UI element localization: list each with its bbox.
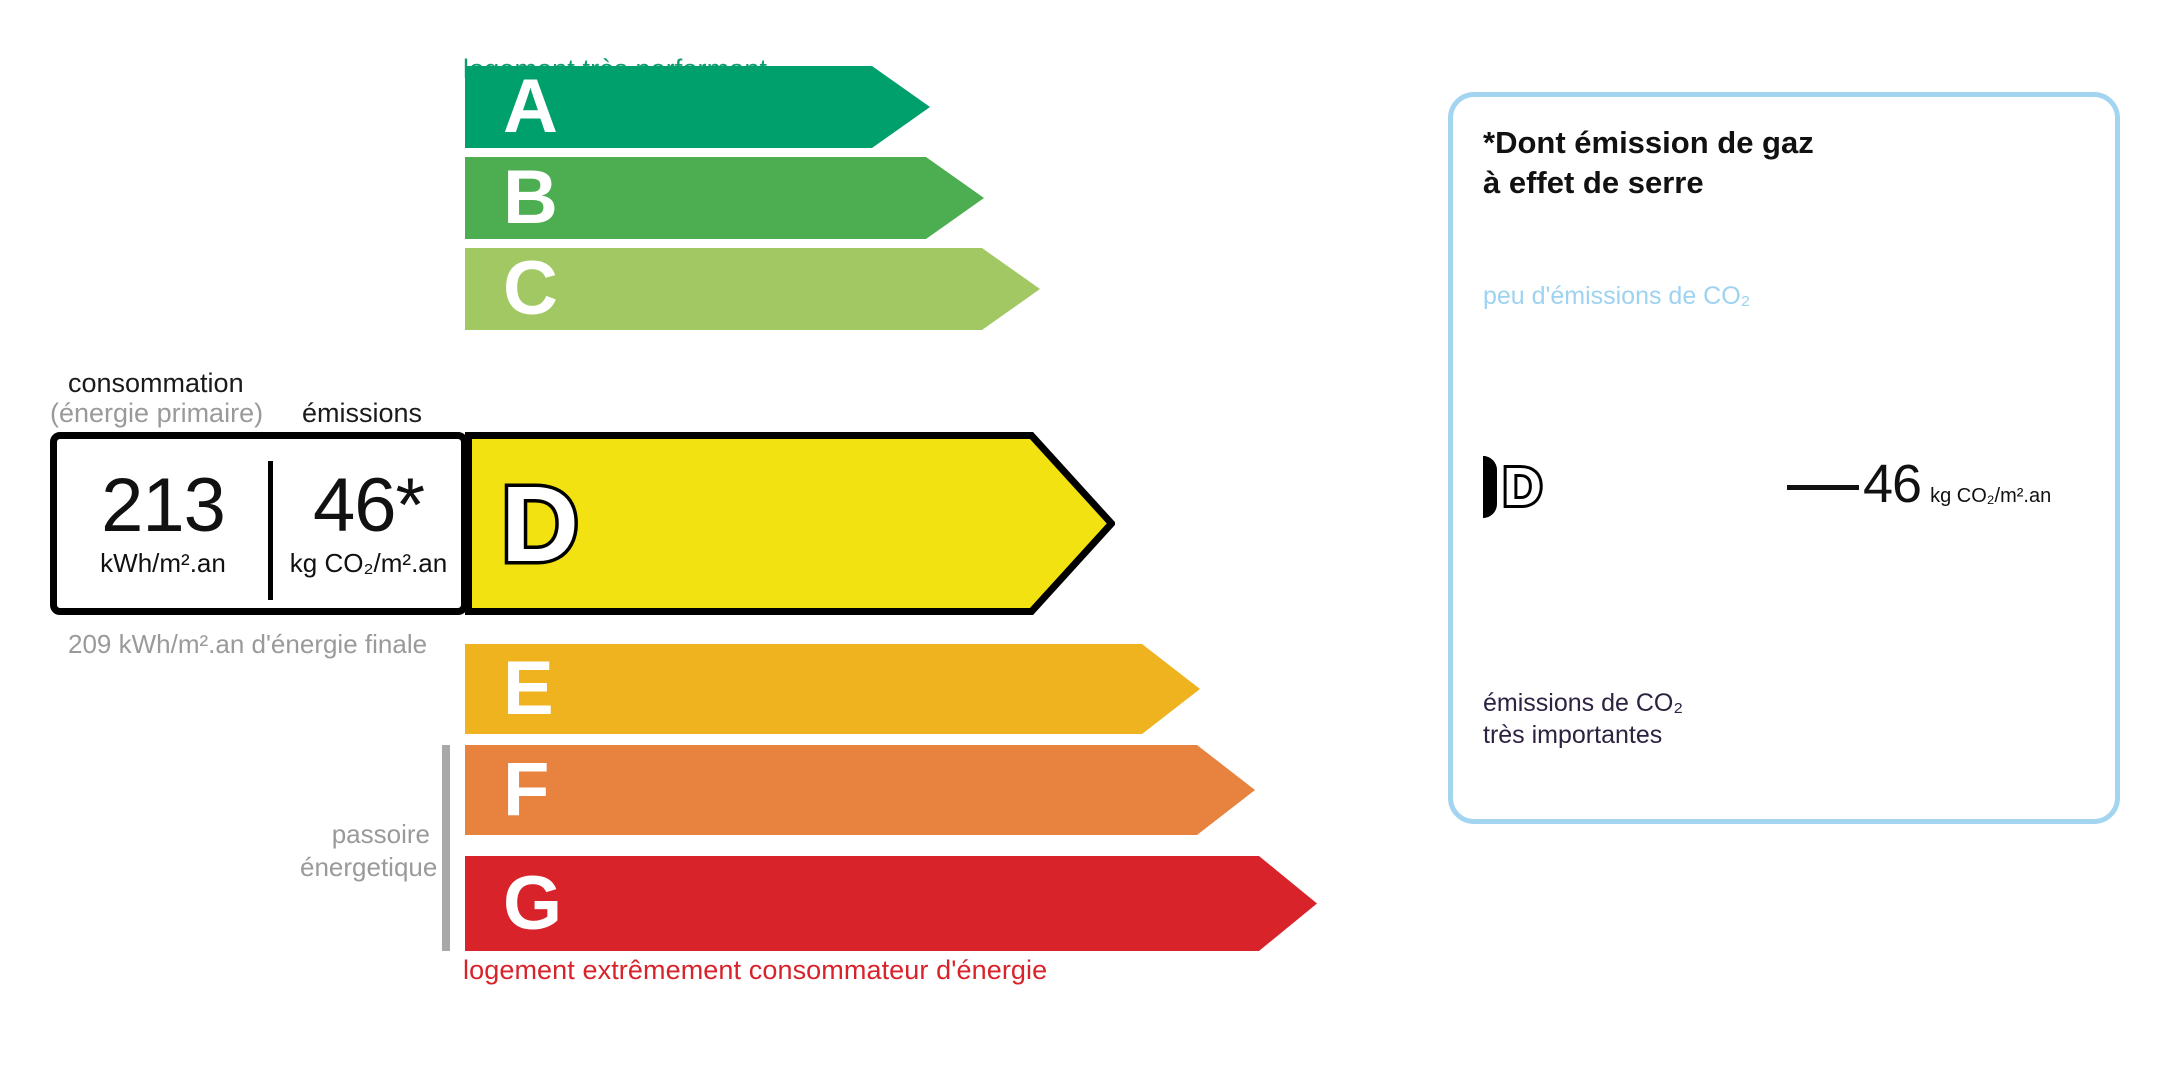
energy-class-e: E — [465, 644, 1200, 734]
co2-class-letter-e: E — [1499, 539, 1524, 577]
emissions-header-label: émissions — [302, 398, 422, 429]
energy-arrow-shape-f — [465, 745, 1255, 835]
emissions-value: 46* — [313, 469, 424, 543]
energy-class-letter-a: A — [503, 69, 558, 145]
energy-arrow-shape-g — [465, 856, 1317, 951]
consumption-value: 213 — [101, 469, 225, 543]
energy-class-letter-b: B — [503, 160, 558, 236]
consumption-header-sublabel: (énergie primaire) — [50, 398, 263, 429]
co2-class-f: F — [1483, 592, 1851, 642]
co2-bar-d — [1483, 456, 1497, 518]
co2-callout: 46 kg CO₂/m².an — [1863, 457, 2051, 511]
co2-class-b: B — [1483, 350, 1693, 394]
passoire-label: passoire énergetique — [300, 818, 430, 885]
co2-class-letter-f: F — [1499, 598, 1522, 636]
energy-class-letter-f: F — [503, 752, 549, 828]
consumption-cell: 213 kWh/m².an — [57, 439, 269, 608]
co2-class-c: C — [1483, 403, 1725, 447]
co2-class-letter-a: A — [1499, 300, 1526, 338]
co2-bottom-caption: émissions de CO₂ très importantes — [1483, 687, 1683, 751]
energy-arrow-shape-e — [465, 644, 1200, 734]
co2-class-letter-c: C — [1499, 406, 1526, 444]
co2-callout-value: 46 — [1863, 457, 1921, 511]
final-energy-note: 209 kWh/m².an d'énergie finale — [68, 628, 427, 661]
energy-class-a: A — [465, 66, 930, 148]
co2-class-d: D — [1483, 456, 1771, 518]
value-box: 213 kWh/m².an 46* kg CO₂/m².an — [50, 432, 468, 615]
energy-performance-scale: logement très performant ABCDEFG 213 kWh… — [0, 0, 1330, 1079]
energy-class-letter-e: E — [503, 651, 554, 727]
co2-class-e: E — [1483, 533, 1821, 583]
co2-class-letter-b: B — [1499, 353, 1526, 391]
co2-class-letter-d: D — [1503, 460, 1542, 514]
emissions-cell: 46* kg CO₂/m².an — [269, 439, 468, 608]
energy-class-f: F — [465, 745, 1255, 835]
energy-class-letter-c: C — [503, 251, 558, 327]
emissions-unit: kg CO₂/m².an — [290, 549, 447, 578]
consumption-header-label: consommation — [68, 368, 244, 399]
energy-class-letter-g: G — [503, 866, 562, 942]
co2-callout-unit: kg CO₂/m².an — [1930, 485, 2051, 508]
co2-class-a: A — [1483, 297, 1661, 341]
energy-class-c: C — [465, 248, 1040, 330]
scale-bottom-caption: logement extrêmement consommateur d'éner… — [463, 955, 1047, 986]
co2-panel-title: *Dont émission de gaz à effet de serre — [1483, 123, 1814, 202]
dpe-diagram: logement très performant ABCDEFG 213 kWh… — [0, 0, 2169, 1079]
co2-panel: *Dont émission de gaz à effet de serre p… — [1448, 92, 2120, 824]
energy-class-letter-d: D — [501, 470, 579, 578]
passoire-bracket — [442, 745, 450, 951]
energy-class-b: B — [465, 157, 984, 239]
consumption-unit: kWh/m².an — [100, 549, 226, 578]
energy-class-g: G — [465, 856, 1317, 951]
energy-class-d: D — [465, 432, 1115, 615]
co2-leader-line — [1787, 485, 1859, 490]
